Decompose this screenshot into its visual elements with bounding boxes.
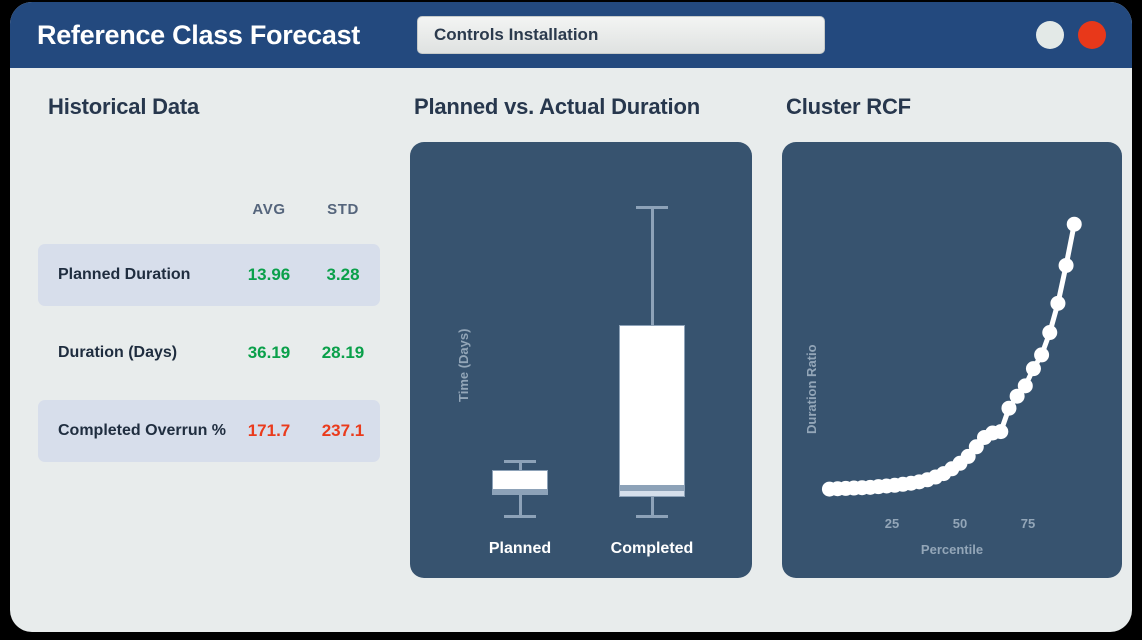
rcf-y-axis-label: Duration Ratio	[804, 344, 819, 434]
table-header-row: AVG STD	[38, 192, 380, 228]
historical-data-table: AVG STD Planned Duration 13.96 3.28	[38, 192, 380, 462]
row-avg-cell: 171.7	[232, 421, 306, 441]
row-label-cell: Planned Duration	[58, 266, 232, 284]
rcf-data-point	[993, 424, 1008, 439]
rcf-data-point	[1026, 361, 1041, 376]
rcf-data-point	[1034, 347, 1049, 362]
row-std-cell: 28.19	[306, 343, 380, 363]
minimize-button[interactable]	[1036, 21, 1064, 49]
cluster-rcf-title: Cluster RCF	[786, 94, 1132, 120]
rcf-data-point	[1050, 296, 1065, 311]
table-row[interactable]: Completed Overrun % 171.7 237.1	[38, 400, 380, 462]
historical-data-panel: Historical Data AVG STD Planned Duration	[38, 90, 410, 632]
rcf-data-point	[1067, 217, 1082, 232]
window-controls	[1036, 21, 1106, 49]
row-std-cell: 3.28	[306, 265, 380, 285]
rcf-data-point	[1059, 258, 1074, 273]
rcf-line-series	[782, 142, 1122, 578]
rcf-data-point	[1018, 378, 1033, 393]
boxplot-panel: Planned vs. Actual Duration Time (Days) …	[410, 90, 782, 632]
boxplot-whisker-cap-high	[636, 206, 668, 209]
table-row[interactable]: Duration (Days) 36.19 28.19	[38, 322, 380, 384]
row-std-cell: 237.1	[306, 421, 380, 441]
table-row[interactable]: Planned Duration 13.96 3.28	[38, 244, 380, 306]
cluster-rcf-chart[interactable]: Duration Ratio 255075 Percentile	[782, 142, 1122, 578]
rcf-x-axis-label: Percentile	[782, 542, 1122, 557]
row-label-cell: Duration (Days)	[58, 344, 232, 362]
boxplot-whisker-cap-low	[636, 515, 668, 518]
app-window: Reference Class Forecast Controls Instal…	[10, 2, 1132, 632]
row-avg-cell: 36.19	[232, 343, 306, 363]
page-title: Reference Class Forecast	[37, 20, 360, 51]
project-select[interactable]: Controls Installation	[417, 16, 825, 54]
main-content: Historical Data AVG STD Planned Duration	[10, 68, 1132, 632]
boxplot-title: Planned vs. Actual Duration	[414, 94, 782, 120]
boxplot-category-planned: Planned	[450, 540, 590, 558]
boxplot-chart[interactable]: Time (Days) Planned Completed	[410, 142, 752, 578]
boxplot-median-line	[619, 485, 685, 491]
historical-data-title: Historical Data	[48, 94, 410, 120]
boxplot-box	[619, 325, 685, 497]
project-select-value: Controls Installation	[434, 25, 598, 45]
cluster-rcf-panel: Cluster RCF Duration Ratio 255075 Percen…	[782, 90, 1132, 632]
boxplot-whisker-cap-low	[504, 515, 536, 518]
table-header-avg: AVG	[232, 201, 306, 219]
boxplot-median-line	[492, 489, 548, 495]
boxplot-whisker-cap-high	[504, 460, 536, 463]
rcf-data-point	[1042, 325, 1057, 340]
row-label-cell: Completed Overrun %	[58, 422, 232, 440]
close-button[interactable]	[1078, 21, 1106, 49]
rcf-x-tick-25: 25	[872, 516, 912, 531]
row-avg-cell: 13.96	[232, 265, 306, 285]
boxplot-y-axis-label: Time (Days)	[456, 329, 471, 402]
rcf-x-tick-50: 50	[940, 516, 980, 531]
title-bar: Reference Class Forecast Controls Instal…	[10, 2, 1132, 68]
table-header-std: STD	[306, 201, 380, 219]
boxplot-category-completed: Completed	[582, 540, 722, 558]
rcf-x-tick-75: 75	[1008, 516, 1048, 531]
